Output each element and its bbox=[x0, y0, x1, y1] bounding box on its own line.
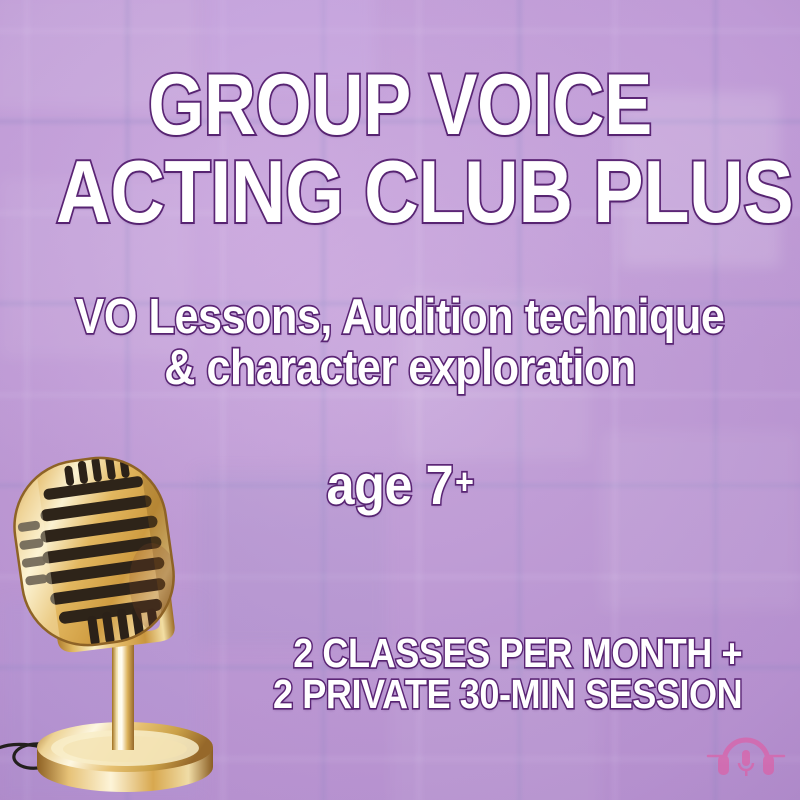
poster-canvas: GROUP VOICE ACTING CLUB PLUS VO Lessons,… bbox=[0, 0, 800, 800]
offer-line-2: 2 PRIVATE 30-MIN SESSION bbox=[273, 673, 742, 715]
page-title-line-1: GROUP VOICE bbox=[64, 66, 736, 145]
retro-microphone-icon bbox=[0, 455, 300, 800]
page-title-line-2: ACTING CLUB PLUS bbox=[56, 152, 744, 233]
age-label: age 7 bbox=[327, 453, 454, 516]
subtitle-line-1: VO Lessons, Audition technique bbox=[48, 293, 752, 343]
subtitle-line-2: & character exploration bbox=[48, 344, 752, 394]
headphones-microphone-logo-icon bbox=[700, 722, 792, 792]
age-plus-sign: + bbox=[455, 461, 473, 502]
offer-line-1: 2 CLASSES PER MONTH + bbox=[293, 632, 742, 674]
microphone-post bbox=[112, 630, 134, 750]
